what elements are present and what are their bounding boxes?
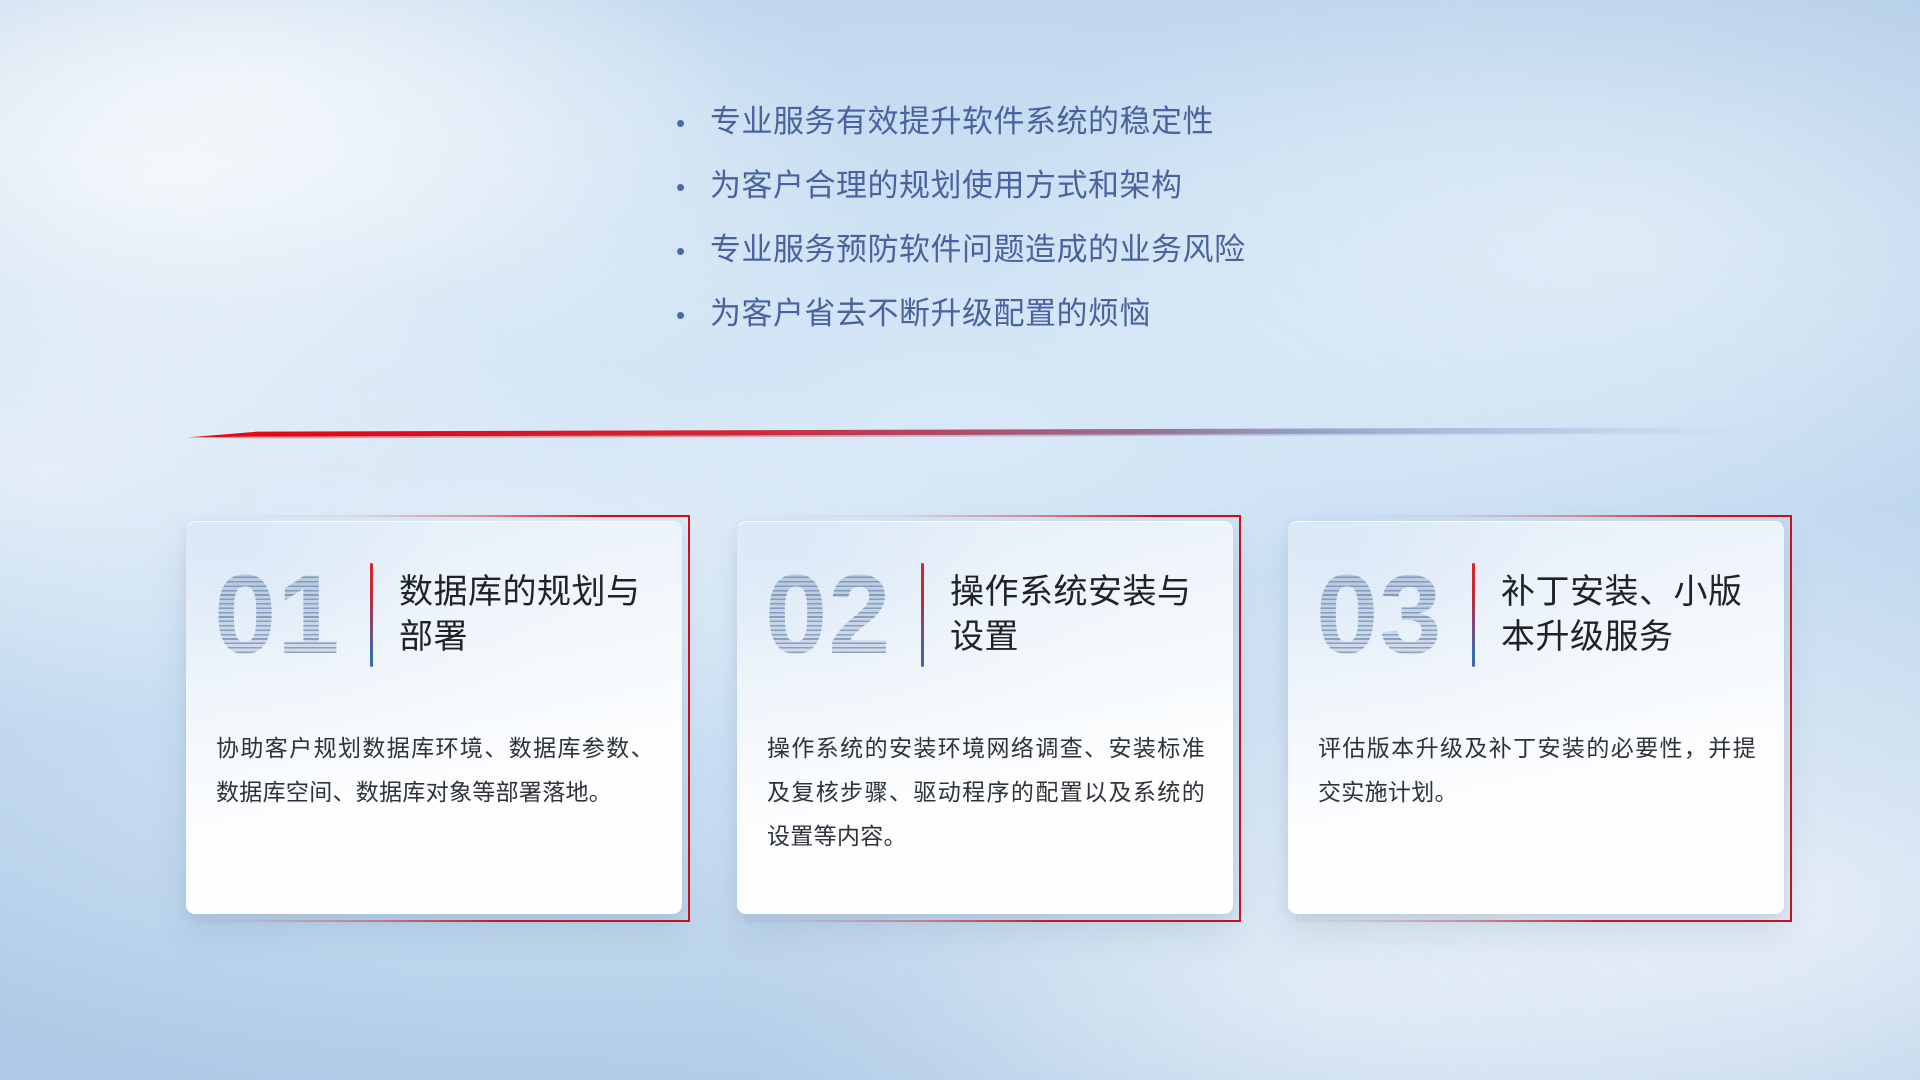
list-item: • 专业服务有效提升软件系统的稳定性 — [676, 96, 1496, 160]
card-title-03: 补丁安装、小版本升级服务 — [1501, 570, 1784, 660]
card-header: 03 补丁安装、小版本升级服务 — [1288, 521, 1784, 709]
slide-canvas: • 专业服务有效提升软件系统的稳定性 • 为客户合理的规划使用方式和架构 • 专… — [0, 0, 1920, 1080]
service-card-01[interactable]: 01 数据库的规划与部署 协助客户规划数据库环境、数据库参数、数据库空间、数据库… — [186, 521, 682, 914]
card-number-03: 03 — [1316, 559, 1468, 671]
list-item: • 专业服务预防软件问题造成的业务风险 — [676, 224, 1496, 288]
card-number-02: 02 — [765, 559, 917, 671]
bullet-dot-icon: • — [676, 110, 710, 136]
bullet-text-3: 专业服务预防软件问题造成的业务风险 — [710, 224, 1246, 269]
bullet-dot-icon: • — [676, 302, 710, 328]
bullet-text-4: 为客户省去不断升级配置的烦恼 — [710, 288, 1151, 333]
bullet-dot-icon: • — [676, 238, 710, 264]
bullet-dot-icon: • — [676, 174, 710, 200]
card-title-01: 数据库的规划与部署 — [399, 570, 682, 660]
bullet-text-1: 专业服务有效提升软件系统的稳定性 — [710, 96, 1214, 141]
card-body-02: 操作系统的安装环境网络调查、安装标准及复核步骤、驱动程序的配置以及系统的设置等内… — [767, 726, 1205, 858]
service-card-02[interactable]: 02 操作系统安装与设置 操作系统的安装环境网络调查、安装标准及复核步骤、驱动程… — [737, 521, 1233, 914]
card-accent-rule — [370, 563, 373, 667]
bullet-text-2: 为客户合理的规划使用方式和架构 — [710, 160, 1183, 205]
list-item: • 为客户省去不断升级配置的烦恼 — [676, 288, 1496, 352]
service-card-03[interactable]: 03 补丁安装、小版本升级服务 评估版本升级及补丁安装的必要性，并提交实施计划。 — [1288, 521, 1784, 914]
divider-wedge-icon — [188, 424, 1748, 446]
card-title-02: 操作系统安装与设置 — [950, 570, 1233, 660]
section-divider — [188, 424, 1748, 446]
list-item: • 为客户合理的规划使用方式和架构 — [676, 160, 1496, 224]
card-header: 02 操作系统安装与设置 — [737, 521, 1233, 709]
card-body-01: 协助客户规划数据库环境、数据库参数、数据库空间、数据库对象等部署落地。 — [216, 726, 654, 814]
card-accent-rule — [921, 563, 924, 667]
card-accent-rule — [1472, 563, 1475, 667]
benefits-bullet-list: • 专业服务有效提升软件系统的稳定性 • 为客户合理的规划使用方式和架构 • 专… — [676, 96, 1496, 352]
card-number-01: 01 — [214, 559, 366, 671]
card-body-03: 评估版本升级及补丁安装的必要性，并提交实施计划。 — [1318, 726, 1756, 814]
card-header: 01 数据库的规划与部署 — [186, 521, 682, 709]
service-card-row: 01 数据库的规划与部署 协助客户规划数据库环境、数据库参数、数据库空间、数据库… — [186, 521, 1786, 921]
